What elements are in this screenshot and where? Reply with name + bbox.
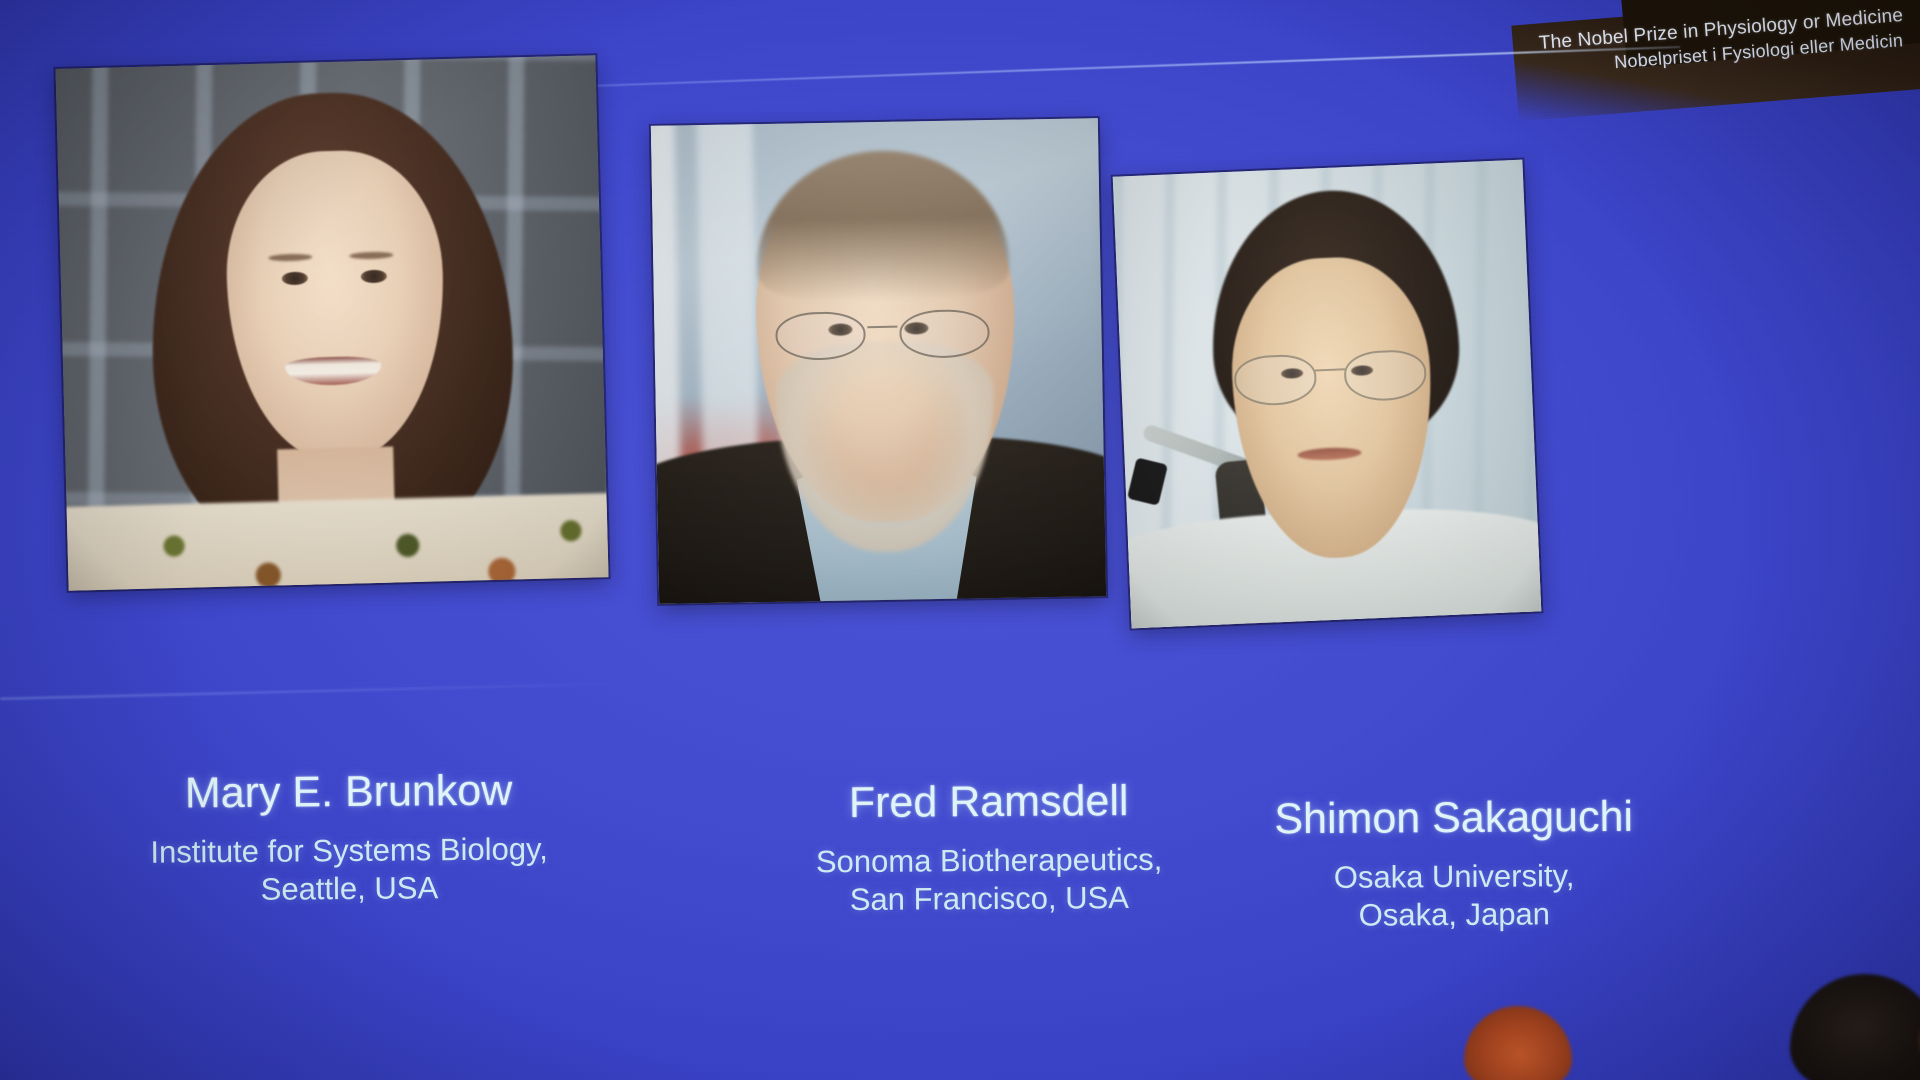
portrait-eye-right-1: [360, 269, 386, 283]
portrait-image-3: [1113, 160, 1542, 629]
portrait-image-1: [55, 55, 608, 590]
laureate-caption-1: Mary E. Brunkow Institute for Systems Bi…: [37, 767, 660, 911]
laureate-affiliation-line1-3: Osaka University,: [1148, 855, 1760, 898]
nobel-announcement-screenshot: The Nobel Prize in Physiology or Medicin…: [0, 0, 1920, 1080]
portrait-lens-left-3: [1233, 354, 1317, 407]
portrait-shimon-sakaguchi: [1113, 160, 1542, 629]
laureate-affiliation-line2-3: Osaka, Japan: [1148, 894, 1760, 937]
portrait-lens-right-2: [899, 309, 990, 359]
laureate-affiliation-3: Osaka University, Osaka, Japan: [1148, 855, 1761, 936]
portrait-image-2: [651, 118, 1106, 604]
portrait-glasses-bridge-3: [1315, 369, 1345, 372]
portrait-glasses-3: [1233, 349, 1427, 403]
portrait-glasses-2: [773, 309, 992, 357]
laureate-caption-3: Shimon Sakaguchi Osaka University, Osaka…: [1148, 794, 1761, 937]
laureate-affiliation-1: Institute for Systems Biology, Seattle, …: [38, 829, 661, 911]
portrait-glasses-bridge-2: [867, 325, 897, 328]
portrait-mary-e-brunkow: [55, 55, 608, 590]
portrait-lens-left-2: [775, 311, 866, 361]
laureate-affiliation-line1-1: Institute for Systems Biology,: [38, 829, 660, 873]
laureate-affiliation-line2-1: Seattle, USA: [38, 867, 660, 911]
laureate-name-3: Shimon Sakaguchi: [1148, 794, 1760, 844]
portrait-clothing-1: [55, 493, 608, 591]
laureate-name-1: Mary E. Brunkow: [37, 767, 659, 818]
portrait-lens-right-3: [1343, 349, 1427, 402]
portrait-fred-ramsdell: [651, 118, 1106, 604]
